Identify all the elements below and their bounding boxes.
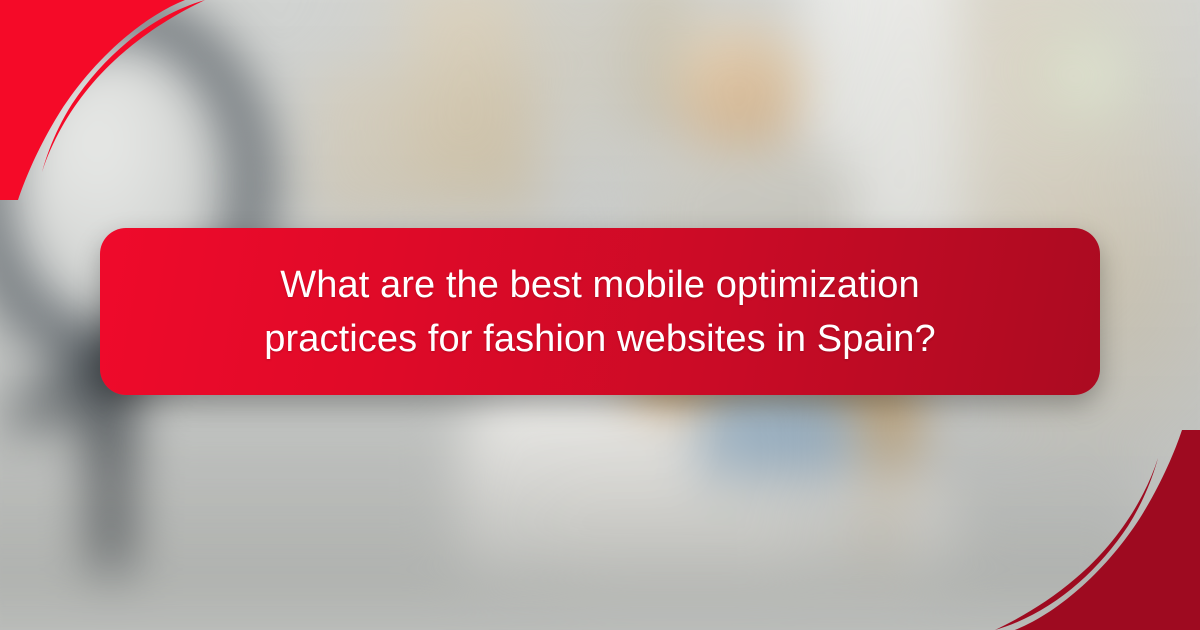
floor-shadow <box>0 410 1140 610</box>
picture-frame-b <box>310 70 540 220</box>
question-banner: What are the best mobile optimization pr… <box>100 228 1100 395</box>
plant-icon <box>1030 10 1150 140</box>
tripod-lower-pole <box>98 440 124 570</box>
question-card: What are the best mobile optimization pr… <box>0 0 1200 630</box>
question-text: What are the best mobile optimization pr… <box>220 258 980 366</box>
